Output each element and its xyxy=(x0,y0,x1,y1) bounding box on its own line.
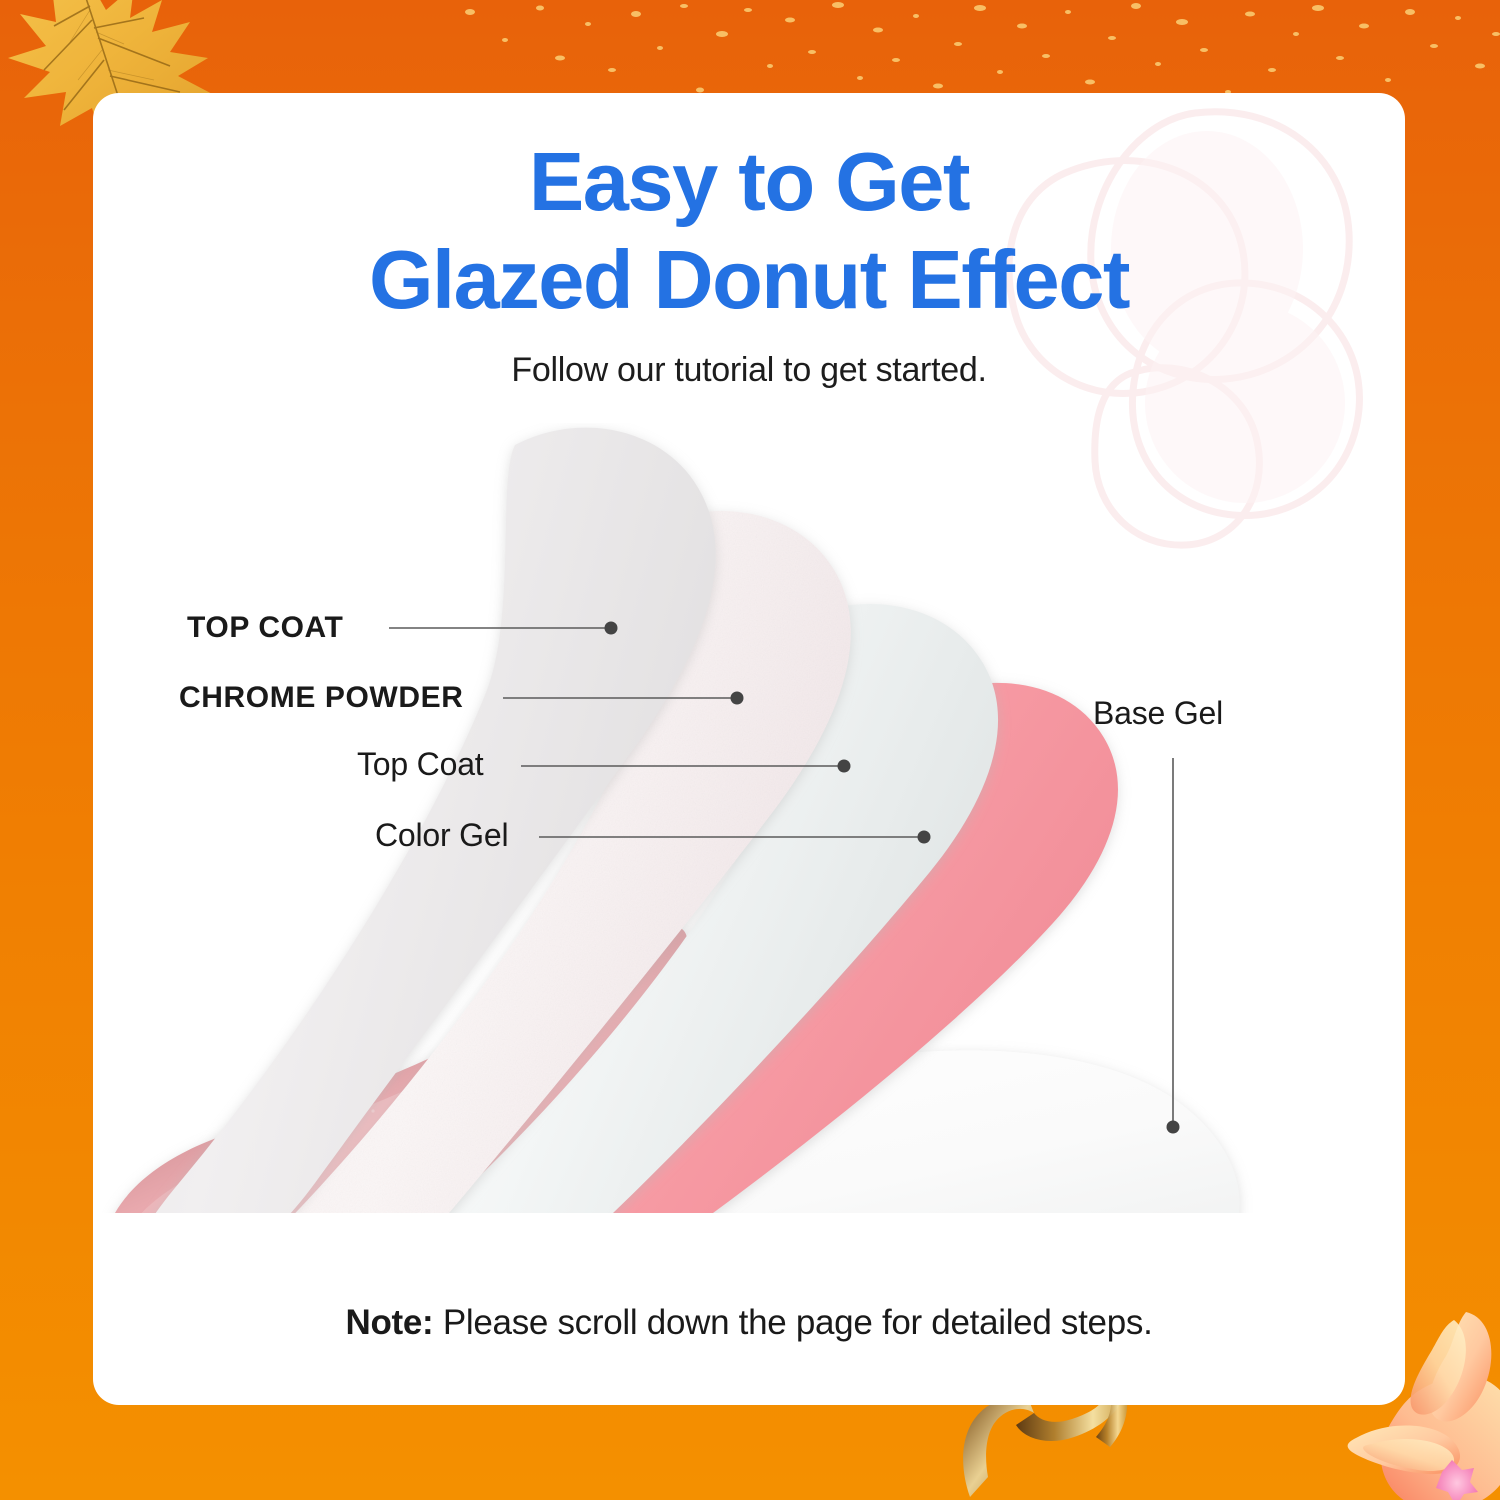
footer-note-prefix: Note: xyxy=(345,1303,433,1342)
footer-note-text: Please scroll down the page for detailed… xyxy=(443,1303,1153,1342)
nail-layers-illustration: TOP COAT CHROME POWDER Top Coat Color Ge… xyxy=(93,423,1405,1213)
label-chrome-powder: CHROME POWDER xyxy=(179,681,463,715)
page-title-line1: Easy to Get xyxy=(529,135,969,228)
label-top-coat-bold: TOP COAT xyxy=(187,611,344,645)
page-subtitle: Follow our tutorial to get started. xyxy=(93,351,1405,390)
footer-note: Note: Please scroll down the page for de… xyxy=(93,1303,1405,1343)
nail-layers-svg xyxy=(93,423,1405,1213)
label-top-coat: Top Coat xyxy=(357,746,483,783)
label-base-gel: Base Gel xyxy=(1093,695,1223,732)
header-block: Easy to GetGlazed Donut Effect Follow ou… xyxy=(93,133,1405,390)
content-card: Easy to GetGlazed Donut Effect Follow ou… xyxy=(93,93,1405,1405)
poster-canvas: Easy to GetGlazed Donut Effect Follow ou… xyxy=(0,0,1500,1500)
page-title: Easy to GetGlazed Donut Effect xyxy=(93,133,1405,329)
label-color-gel: Color Gel xyxy=(375,817,508,854)
page-title-line2: Glazed Donut Effect xyxy=(369,233,1129,326)
